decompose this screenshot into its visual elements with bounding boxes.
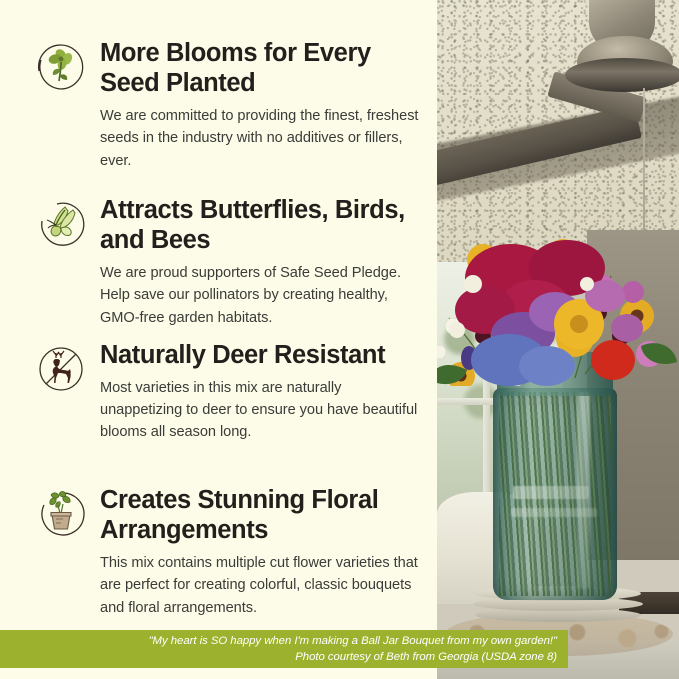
- benefit-title-4: Creates Stunning Floral Arrangements: [100, 485, 423, 545]
- butterfly-icon: [32, 195, 90, 253]
- benefit-body-1: We are committed to providing the finest…: [100, 105, 423, 172]
- bouquet-photo: [437, 0, 679, 679]
- no-deer-icon: [32, 340, 90, 398]
- caption-quote: "My heart is SO happy when I'm making a …: [149, 633, 557, 649]
- benefit-body-2: We are proud supporters of Safe Seed Ple…: [100, 262, 423, 329]
- benefit-text-4: Creates Stunning Floral Arrangements Thi…: [100, 485, 423, 619]
- benefit-body-3: Most varieties in this mix are naturally…: [100, 377, 423, 444]
- benefit-text-1: More Blooms for Every Seed Planted We ar…: [100, 38, 423, 172]
- caption-credit: Photo courtesy of Beth from Georgia (USD…: [295, 649, 557, 665]
- benefit-title-1: More Blooms for Every Seed Planted: [100, 38, 423, 98]
- jar-highlight: [577, 392, 590, 588]
- benefit-body-4: This mix contains multiple cut flower va…: [100, 552, 423, 619]
- benefit-text-3: Naturally Deer Resistant Most varieties …: [100, 340, 423, 444]
- photo-caption-bar: "My heart is SO happy when I'm making a …: [0, 630, 568, 668]
- product-feature-graphic: More Blooms for Every Seed Planted We ar…: [0, 0, 679, 679]
- potted-plant-icon: [32, 485, 90, 543]
- fan-hub: [565, 58, 679, 92]
- benefit-title-3: Naturally Deer Resistant: [100, 340, 423, 370]
- benefits-panel: More Blooms for Every Seed Planted We ar…: [0, 0, 437, 679]
- benefit-title-2: Attracts Butterflies, Birds, and Bees: [100, 195, 423, 255]
- bouquet-mass: [437, 238, 679, 408]
- benefit-text-2: Attracts Butterflies, Birds, and Bees We…: [100, 195, 423, 329]
- flower-sprout-icon: [32, 38, 90, 96]
